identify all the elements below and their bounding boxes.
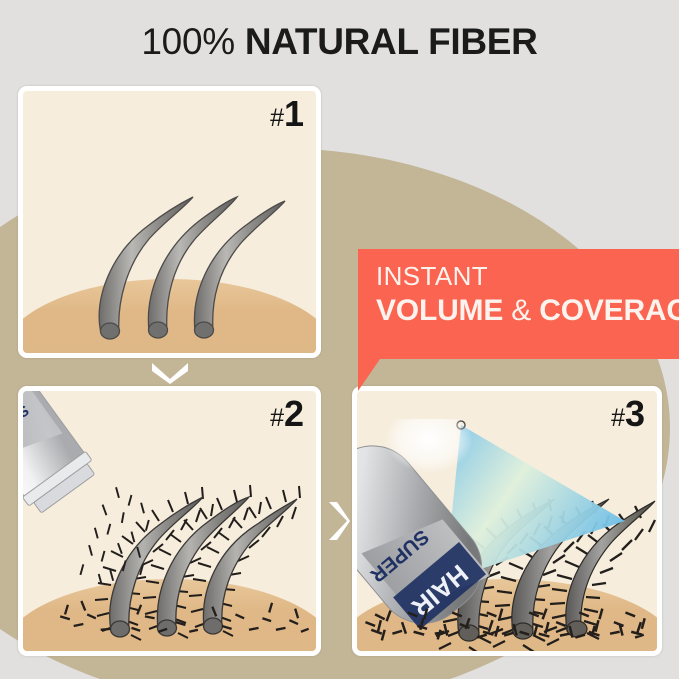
panel-2-badge-digit: 2	[284, 393, 304, 434]
panel-3-badge-hash: #	[611, 404, 625, 432]
callout-banner-tail	[358, 359, 380, 391]
callout-line-1: INSTANT	[376, 261, 679, 292]
page-title-bold: NATURAL FIBER	[245, 21, 538, 62]
chevron-down-icon	[150, 360, 190, 384]
step-panel-3: SUPER HAIR	[352, 386, 662, 656]
page-title: 100% NATURAL FIBER	[0, 20, 679, 64]
spray-bottle: SUPER HAIR	[352, 419, 511, 656]
callout-line-2-ampersand: &	[511, 294, 531, 327]
panel-2-badge-hash: #	[270, 404, 284, 432]
panel-2-badge: #2	[270, 397, 304, 435]
infographic-canvas: 100% NATURAL FIBER	[0, 0, 679, 679]
callout-line-2-volume: VOLUME	[376, 294, 503, 327]
chevron-right-icon	[326, 500, 350, 542]
fiber-bottle-pouring: SUPER MILLION	[18, 386, 117, 519]
callout-line-2-coverage: COVERAGE	[539, 294, 679, 327]
panel-3-badge-digit: 3	[625, 393, 645, 434]
panel-1-badge-digit: 1	[284, 93, 304, 134]
callout-line-2: VOLUME & COVERAGE	[376, 292, 679, 330]
panel-1-badge: #1	[270, 97, 304, 135]
panel-1-badge-hash: #	[270, 104, 284, 132]
step-panel-2: SUPER MILLION #2	[18, 386, 321, 656]
page-title-thin: 100%	[141, 21, 234, 62]
step-panel-1: #1	[18, 86, 321, 358]
callout-banner-text: INSTANT VOLUME & COVERAGE	[376, 261, 679, 330]
panel-3-badge: #3	[611, 397, 645, 435]
callout-banner: INSTANT VOLUME & COVERAGE	[358, 249, 679, 359]
